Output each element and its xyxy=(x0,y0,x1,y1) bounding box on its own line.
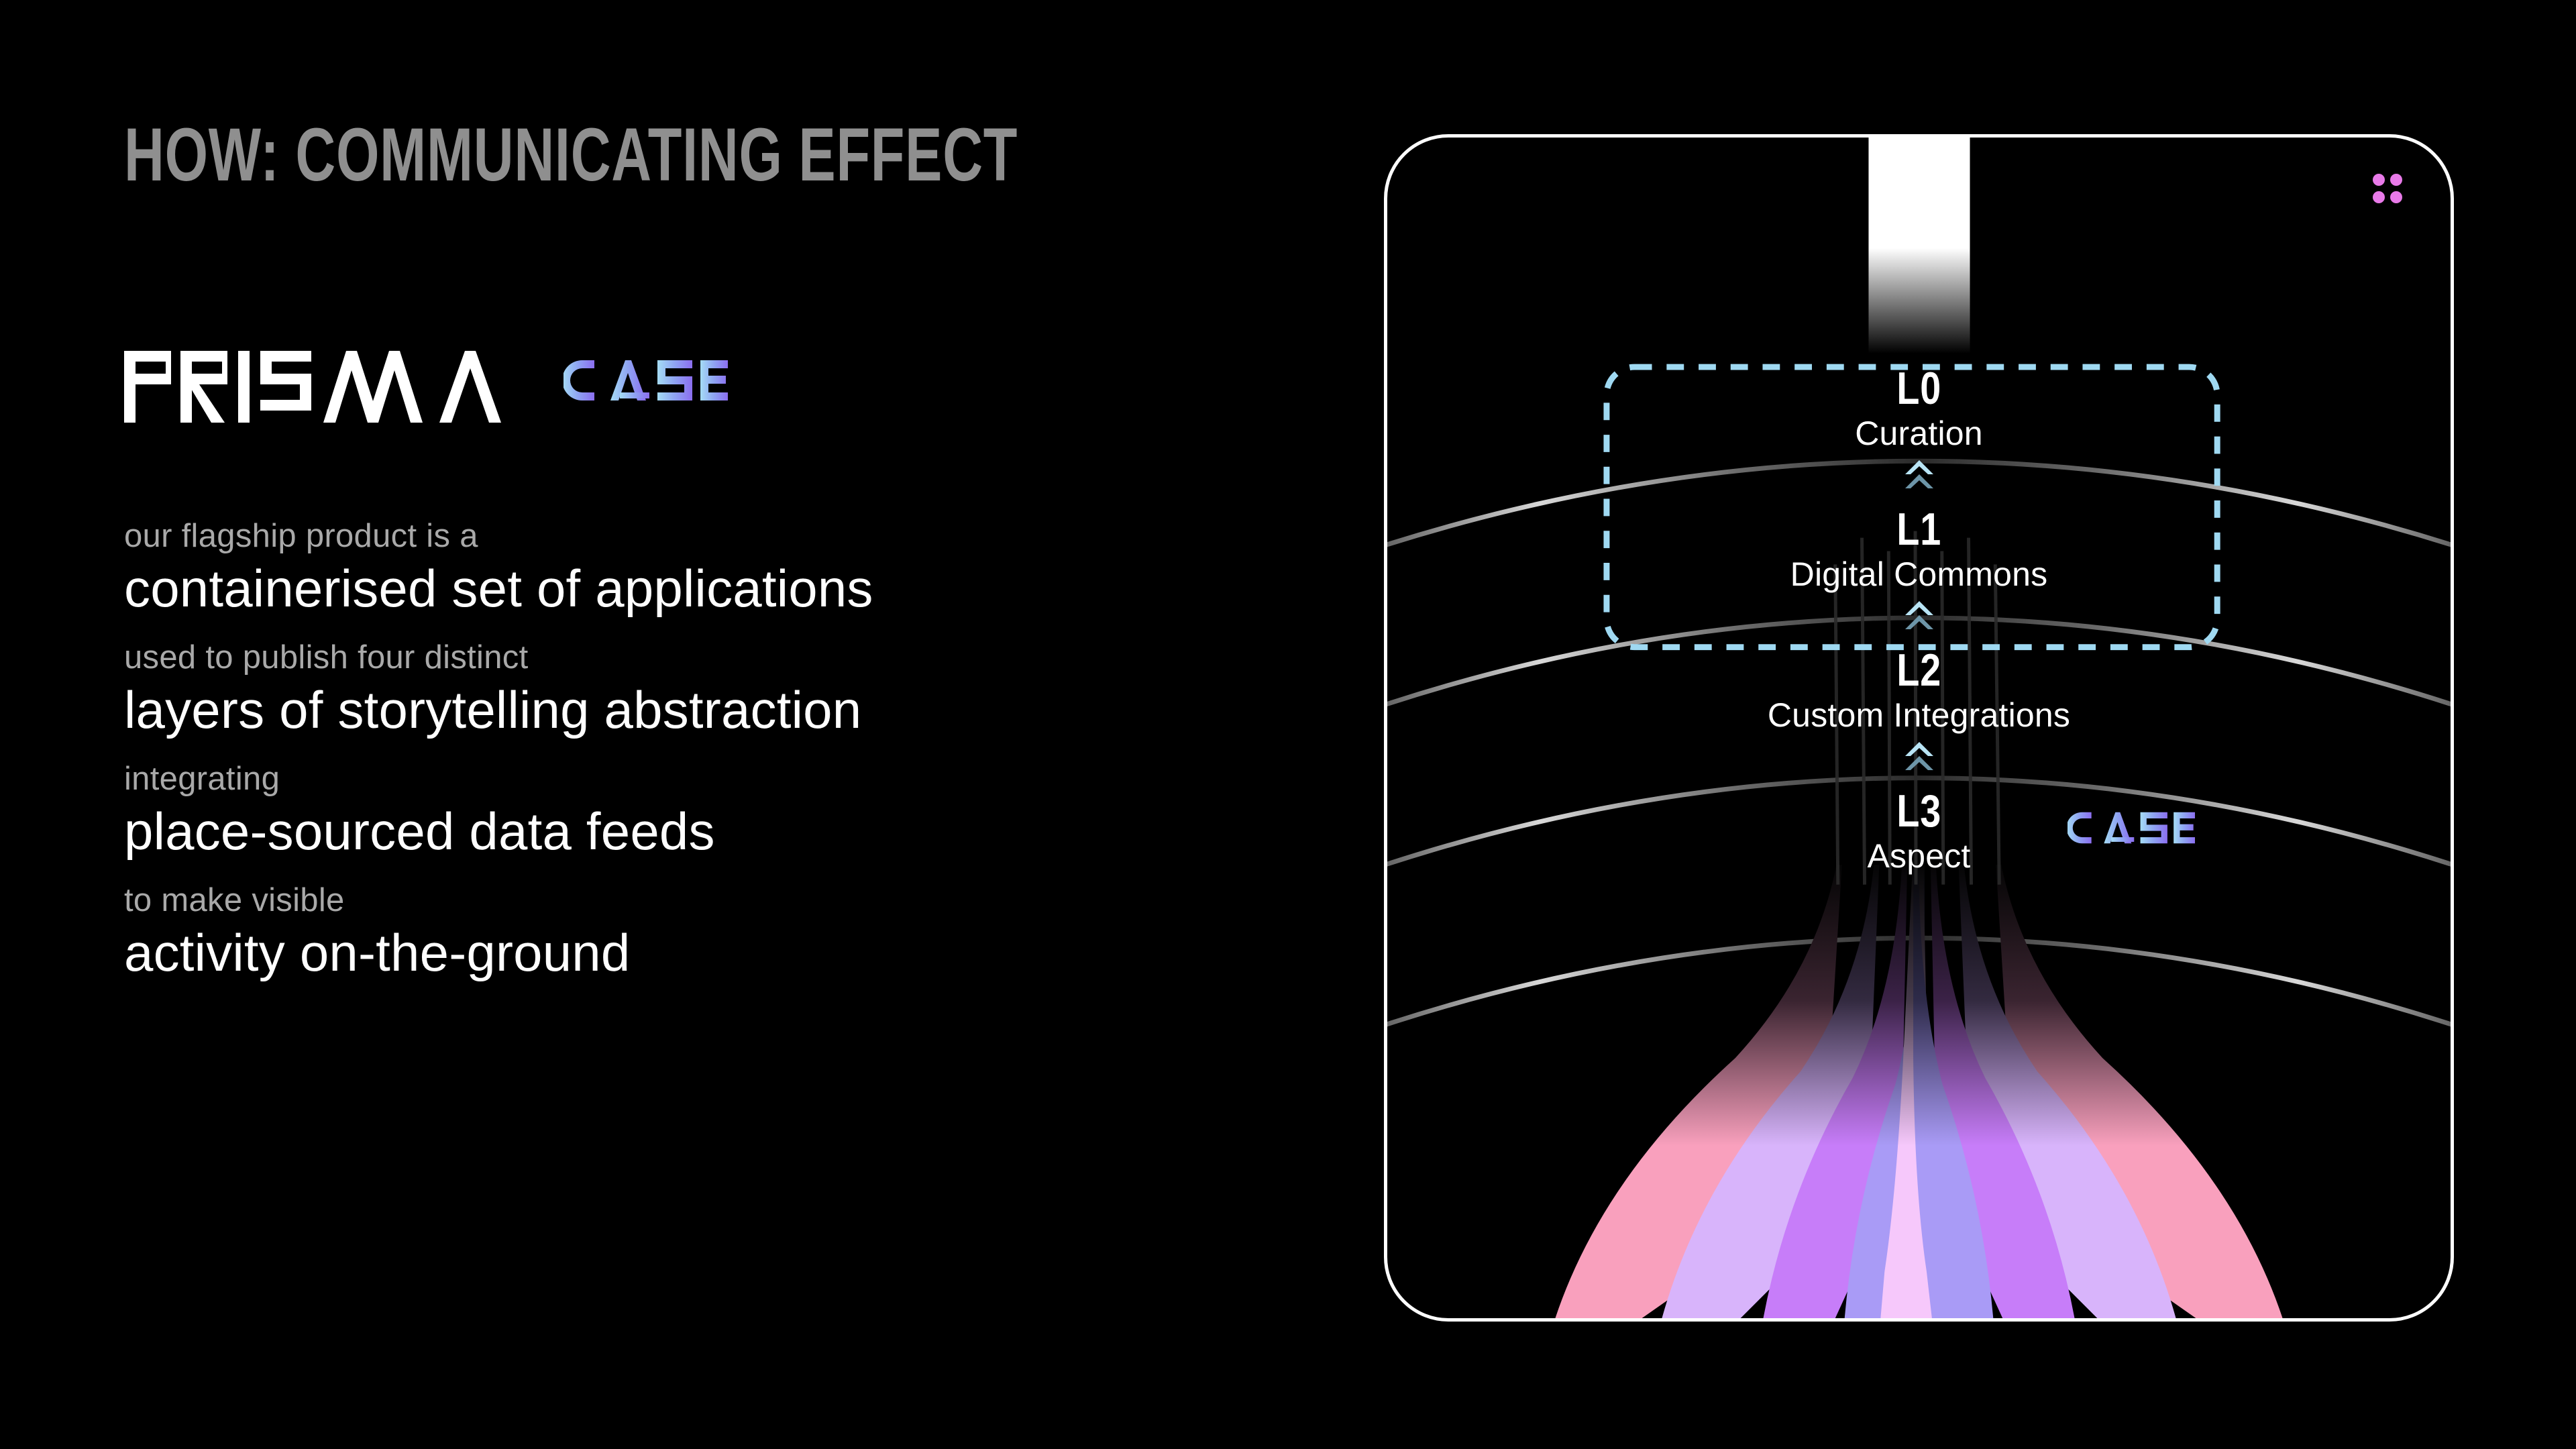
page-title: HOW: COMMUNICATING EFFECT xyxy=(124,117,1018,193)
copy-statement: containerised set of applications xyxy=(124,562,1332,614)
diagram-panel-wrapper: L0 Curation L1 Digital Commons xyxy=(1384,134,2454,1322)
dot-grid-icon[interactable] xyxy=(2373,174,2402,203)
dashed-boundary xyxy=(1607,367,2217,647)
copy-lead: integrating xyxy=(124,763,1332,796)
case-wordmark-badge xyxy=(2068,810,2195,846)
copy-block: to make visible activity on-the-ground xyxy=(124,884,1332,979)
dot xyxy=(2373,191,2385,203)
diagram-panel: L0 Curation L1 Digital Commons xyxy=(1384,134,2454,1322)
copy-statement: layers of storytelling abstraction xyxy=(124,684,1332,736)
dot xyxy=(2390,191,2402,203)
slide-root: HOW: COMMUNICATING EFFECT xyxy=(0,0,2576,1449)
copy-block: our flagship product is a containerised … xyxy=(124,520,1332,614)
prisma-wordmark xyxy=(124,345,533,423)
copy-lead: our flagship product is a xyxy=(124,520,1332,553)
copy-statement: place-sourced data feeds xyxy=(124,805,1332,857)
body-copy: our flagship product is a containerised … xyxy=(124,520,1332,979)
copy-statement: activity on-the-ground xyxy=(124,926,1332,979)
dot xyxy=(2390,174,2402,186)
case-wordmark-header xyxy=(563,358,728,403)
antenna-bar xyxy=(1868,138,1970,354)
copy-lead: used to publish four distinct xyxy=(124,641,1332,674)
copy-block: integrating place-sourced data feeds xyxy=(124,763,1332,857)
dot xyxy=(2373,174,2385,186)
copy-lead: to make visible xyxy=(124,884,1332,917)
diagram-graphics xyxy=(1387,138,2451,1318)
left-column: HOW: COMMUNICATING EFFECT xyxy=(0,0,1342,1449)
copy-block: used to publish four distinct layers of … xyxy=(124,641,1332,736)
